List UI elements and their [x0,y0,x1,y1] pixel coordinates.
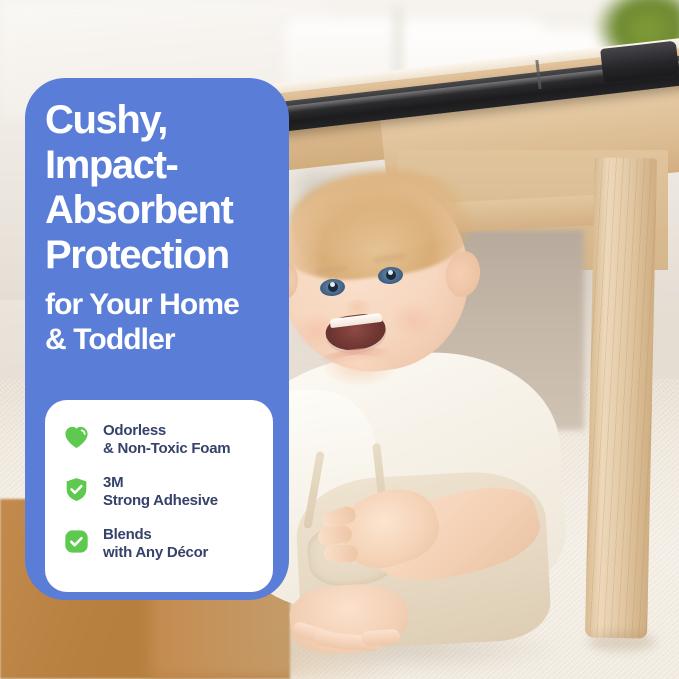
feature-item-adhesive: 3M Strong Adhesive [63,474,273,509]
headline-line-1: Cushy, [45,98,295,143]
headline: Cushy, Impact- Absorbent Protection [45,98,295,278]
feature-label: 3M Strong Adhesive [103,474,218,509]
baby-finger [362,629,401,647]
feature-label: Blends with Any Décor [103,526,208,561]
baby-eye-glint-right [388,270,393,275]
feature-item-odorless: Odorless & Non-Toxic Foam [63,422,273,457]
feature-line-2: & Non-Toxic Foam [103,440,230,458]
feature-line-2: with Any Décor [103,544,208,562]
headline-line-3: Absorbent [45,188,295,233]
subheadline-line-2: & Toddler [45,322,295,357]
feature-item-blends: Blends with Any Décor [63,526,273,561]
baby-eye-glint-left [330,282,335,287]
check-square-icon [63,528,90,555]
feature-card: Odorless & Non-Toxic Foam 3M Strong Adhe… [45,400,273,592]
feature-label: Odorless & Non-Toxic Foam [103,422,230,457]
shield-check-icon [63,476,90,503]
heart-icon [63,424,90,451]
headline-line-4: Protection [45,233,295,278]
baby [250,175,610,645]
subheadline-line-1: for Your Home [45,287,295,322]
feature-line-1: Odorless [103,422,230,440]
feature-line-2: Strong Adhesive [103,492,218,510]
feature-line-1: 3M [103,474,218,492]
subheadline: for Your Home & Toddler [45,287,295,357]
product-lifestyle-image: Cushy, Impact- Absorbent Protection for … [0,0,679,679]
baby-finger [324,544,359,562]
baby-chin [324,355,394,385]
headline-line-2: Impact- [45,143,295,188]
baby-cheek-right [390,301,436,339]
feature-line-1: Blends [103,526,208,544]
